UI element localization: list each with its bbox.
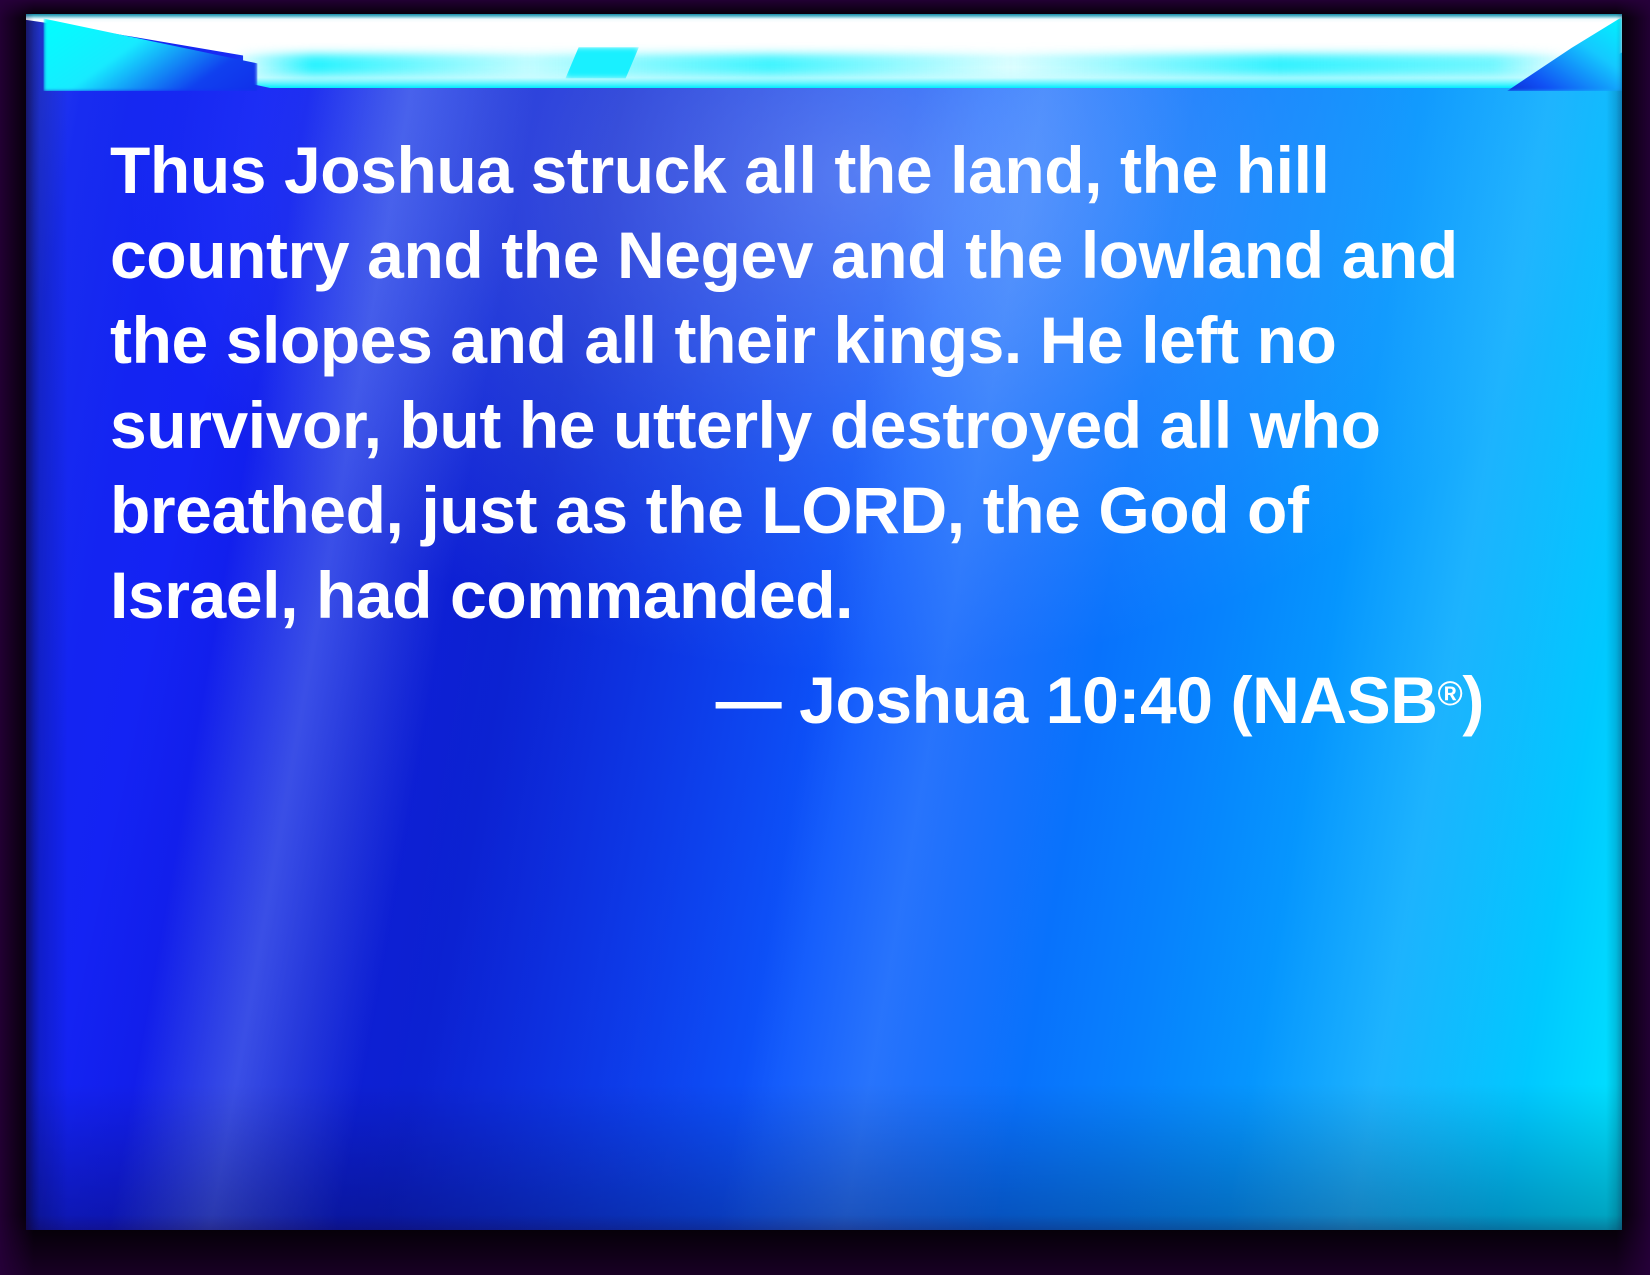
verse-reference: — Joshua 10:40 (NASB®) bbox=[110, 638, 1500, 743]
top-glow-banner bbox=[26, 14, 1622, 88]
registered-trademark-icon: ® bbox=[1438, 675, 1463, 713]
slide-canvas: Thus Joshua struck all the land, the hil… bbox=[26, 14, 1622, 1230]
verse-slide: Thus Joshua struck all the land, the hil… bbox=[0, 0, 1650, 1275]
banner-cyan-streak bbox=[233, 54, 1574, 76]
banner-top-hairline bbox=[26, 14, 1622, 19]
verse-reference-suffix: ) bbox=[1462, 663, 1484, 737]
banner-white-band bbox=[26, 14, 1622, 88]
verse-body-text: Thus Joshua struck all the land, the hil… bbox=[110, 128, 1500, 638]
verse-reference-prefix: — Joshua 10:40 (NASB bbox=[716, 663, 1438, 737]
verse-block: Thus Joshua struck all the land, the hil… bbox=[110, 128, 1500, 743]
